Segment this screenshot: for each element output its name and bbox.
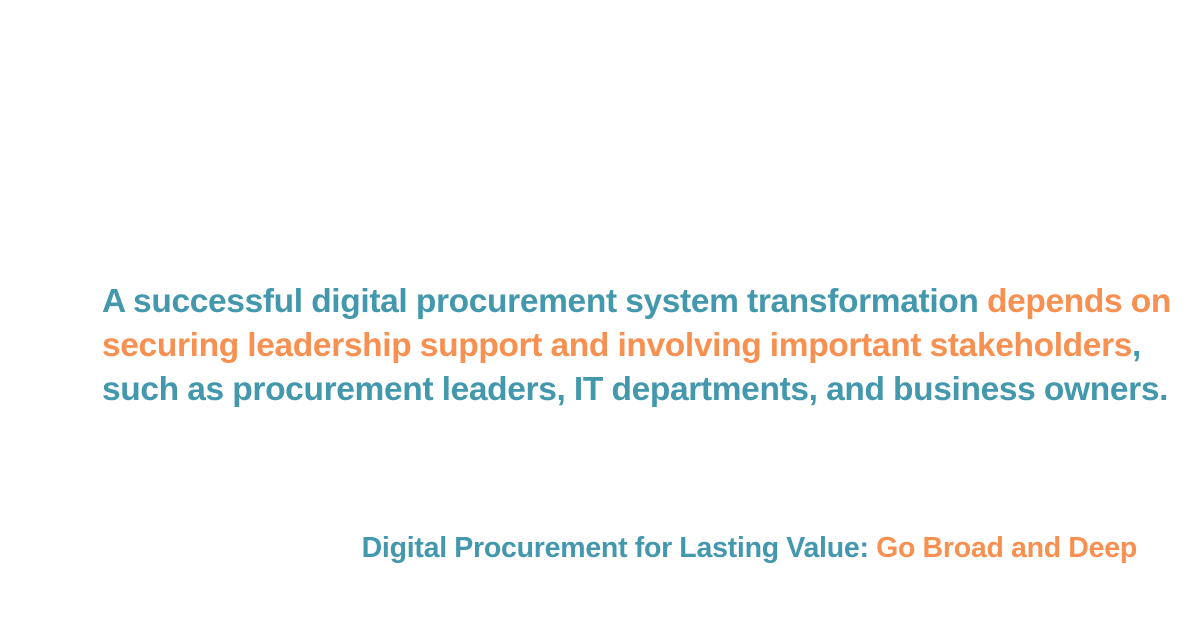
source-title: Digital Procurement for Lasting Value:	[362, 532, 869, 564]
quote-segment-lead: A successful digital procurement system …	[102, 283, 987, 320]
quote-card: A successful digital procurement system …	[0, 0, 1200, 630]
source-highlight: Go Broad and Deep	[869, 532, 1137, 564]
quote-text: A successful digital procurement system …	[102, 280, 1180, 412]
source-attribution: Digital Procurement for Lasting Value: G…	[0, 528, 1137, 568]
